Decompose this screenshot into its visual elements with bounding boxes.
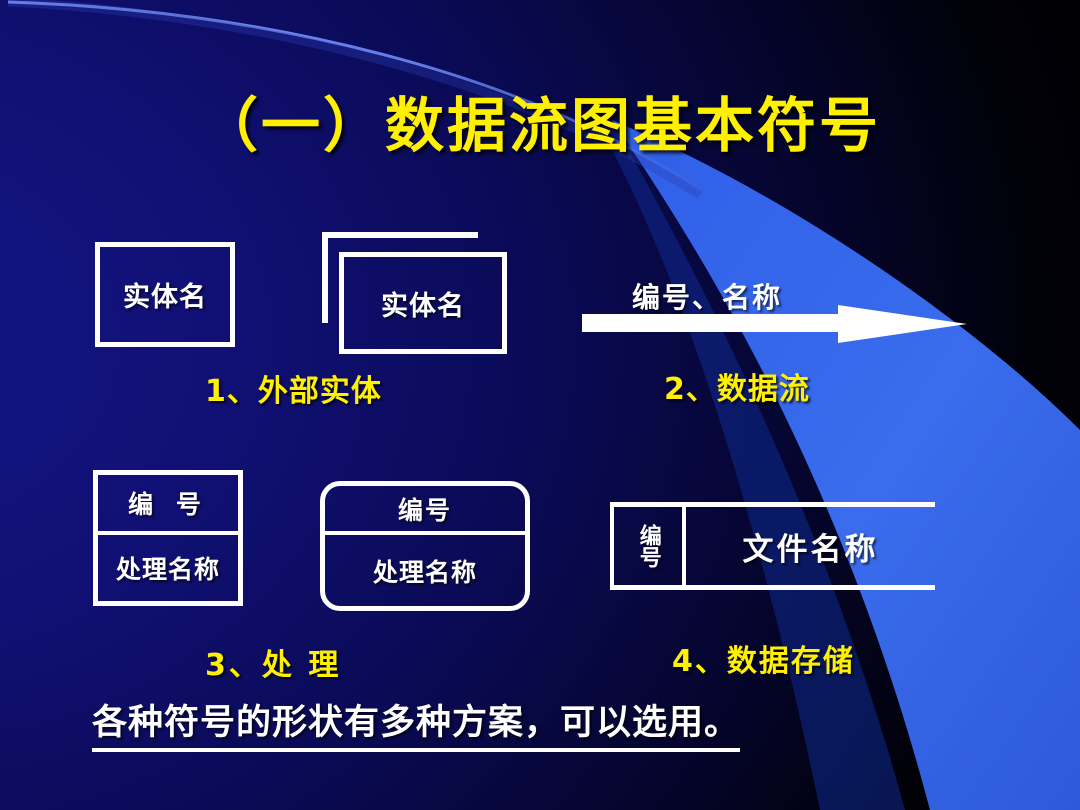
external-entity-shadow-box: 实体名 bbox=[339, 252, 507, 354]
caption-process: 3、处 理 bbox=[205, 640, 341, 684]
process-round-name-label: 处理名称 bbox=[373, 553, 477, 589]
caption-external-entity: 1、外部实体 bbox=[205, 366, 382, 410]
process-round-name-row: 处理名称 bbox=[325, 535, 525, 606]
arrow-shape bbox=[582, 305, 967, 343]
data-flow-arrow-icon bbox=[582, 303, 967, 343]
process-rect-symbol: 编 号 处理名称 bbox=[93, 470, 243, 606]
data-store-name-label: 文件名称 bbox=[743, 524, 879, 569]
data-store-number-cell: 编号 bbox=[610, 507, 686, 585]
process-round-number-label: 编号 bbox=[398, 491, 452, 527]
footer-note: 各种符号的形状有多种方案，可以选用。 bbox=[92, 694, 740, 752]
process-rect-number-label: 编 号 bbox=[128, 485, 208, 521]
external-entity-plain-box: 实体名 bbox=[95, 242, 235, 347]
process-rect-number-row: 编 号 bbox=[98, 475, 238, 535]
external-entity-plain-label: 实体名 bbox=[123, 275, 207, 314]
data-store-symbol: 编号 文件名称 bbox=[610, 502, 935, 590]
page-title: （一）数据流图基本符号 bbox=[0, 78, 1080, 163]
slide-canvas: （一）数据流图基本符号 实体名 实体名 1、外部实体 编号、名称 2、数据流 编… bbox=[0, 0, 1080, 810]
process-round-number-row: 编号 bbox=[325, 486, 525, 535]
external-entity-shadow-label: 实体名 bbox=[381, 284, 465, 323]
data-store-number-label: 编号 bbox=[637, 524, 659, 568]
caption-data-store: 4、数据存储 bbox=[672, 636, 855, 680]
process-rect-name-row: 处理名称 bbox=[98, 535, 238, 601]
process-rounded-symbol: 编号 处理名称 bbox=[320, 481, 530, 611]
caption-data-flow: 2、数据流 bbox=[664, 364, 810, 408]
process-rect-name-label: 处理名称 bbox=[116, 550, 220, 586]
data-store-name-cell: 文件名称 bbox=[686, 507, 935, 585]
